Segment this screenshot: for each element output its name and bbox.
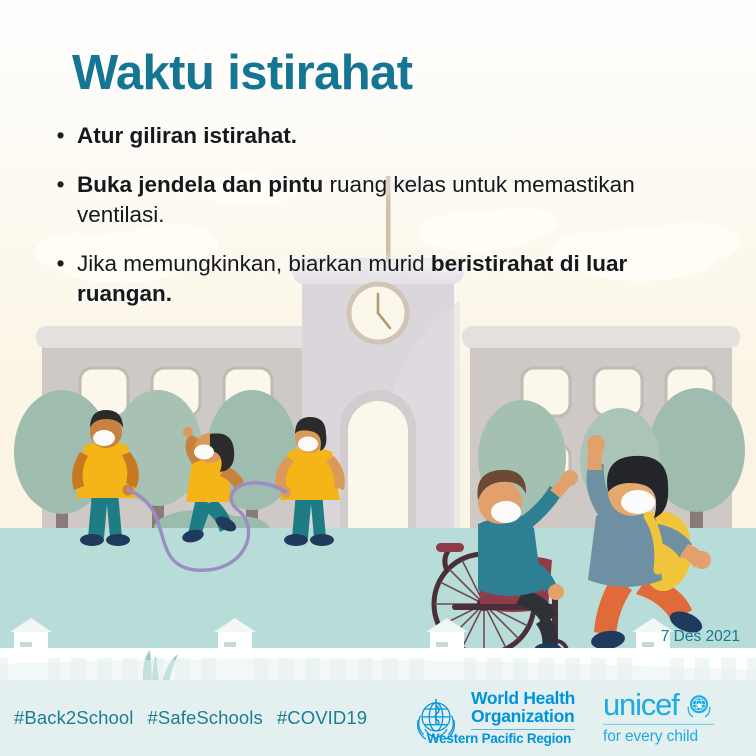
bullet-list: • Atur giliran istirahat. • Buka jendela…: [36, 121, 720, 309]
poster-canvas: Waktu istirahat • Atur giliran istirahat…: [0, 0, 756, 756]
school-door: [348, 401, 408, 530]
bullet-segment-bold: Atur giliran istirahat.: [77, 123, 297, 148]
face-mask: [621, 490, 655, 514]
bullet-marker: •: [44, 249, 77, 277]
who-line-3: Western Pacific Region: [423, 732, 575, 746]
page-title: Waktu istirahat: [36, 48, 720, 99]
unicef-wordmark: unicef: [603, 690, 679, 720]
hashtag-back2school: #Back2School: [14, 707, 133, 728]
bullet-item: • Jika memungkinkan, biarkan murid beris…: [44, 249, 720, 309]
hashtag-covid19: #COVID19: [277, 707, 367, 728]
date-label: 7 Des 2021: [661, 628, 740, 646]
hashtag-safeschools: #SafeSchools: [147, 707, 262, 728]
bullet-marker: •: [44, 170, 77, 198]
bullet-item: • Atur giliran istirahat.: [44, 121, 720, 151]
face-mask: [491, 501, 521, 523]
bullet-segment-bold: Buka jendela dan pintu: [77, 172, 330, 197]
unicef-tagline: for every child: [603, 728, 714, 746]
who-text: World Health Organization Western Pacifi…: [471, 690, 575, 745]
unicef-wordmark-row: unicef: [603, 690, 714, 720]
bullet-text: Jika memungkinkan, biarkan murid beristi…: [77, 249, 677, 309]
who-logo: World Health Organization Western Pacifi…: [408, 690, 575, 746]
unicef-emblem-icon: [684, 690, 714, 720]
bullet-marker: •: [44, 121, 77, 149]
unicef-logo: unicef for every child: [603, 690, 714, 746]
bullet-text: Atur giliran istirahat.: [77, 121, 297, 151]
bullet-text: Buka jendela dan pintu ruang kelas untuk…: [77, 170, 677, 230]
who-line-2: Organization: [471, 708, 575, 726]
bottom-bar: #Back2School#SafeSchools#COVID19: [0, 680, 756, 756]
unicef-divider: [603, 724, 714, 725]
bullet-item: • Buka jendela dan pintu ruang kelas unt…: [44, 170, 720, 230]
hashtag-group: #Back2School#SafeSchools#COVID19: [14, 707, 381, 729]
text-block: Waktu istirahat • Atur giliran istirahat…: [0, 0, 756, 328]
who-divider: [471, 729, 575, 730]
bullet-segment-regular: Jika memungkinkan, biarkan murid: [77, 251, 431, 276]
